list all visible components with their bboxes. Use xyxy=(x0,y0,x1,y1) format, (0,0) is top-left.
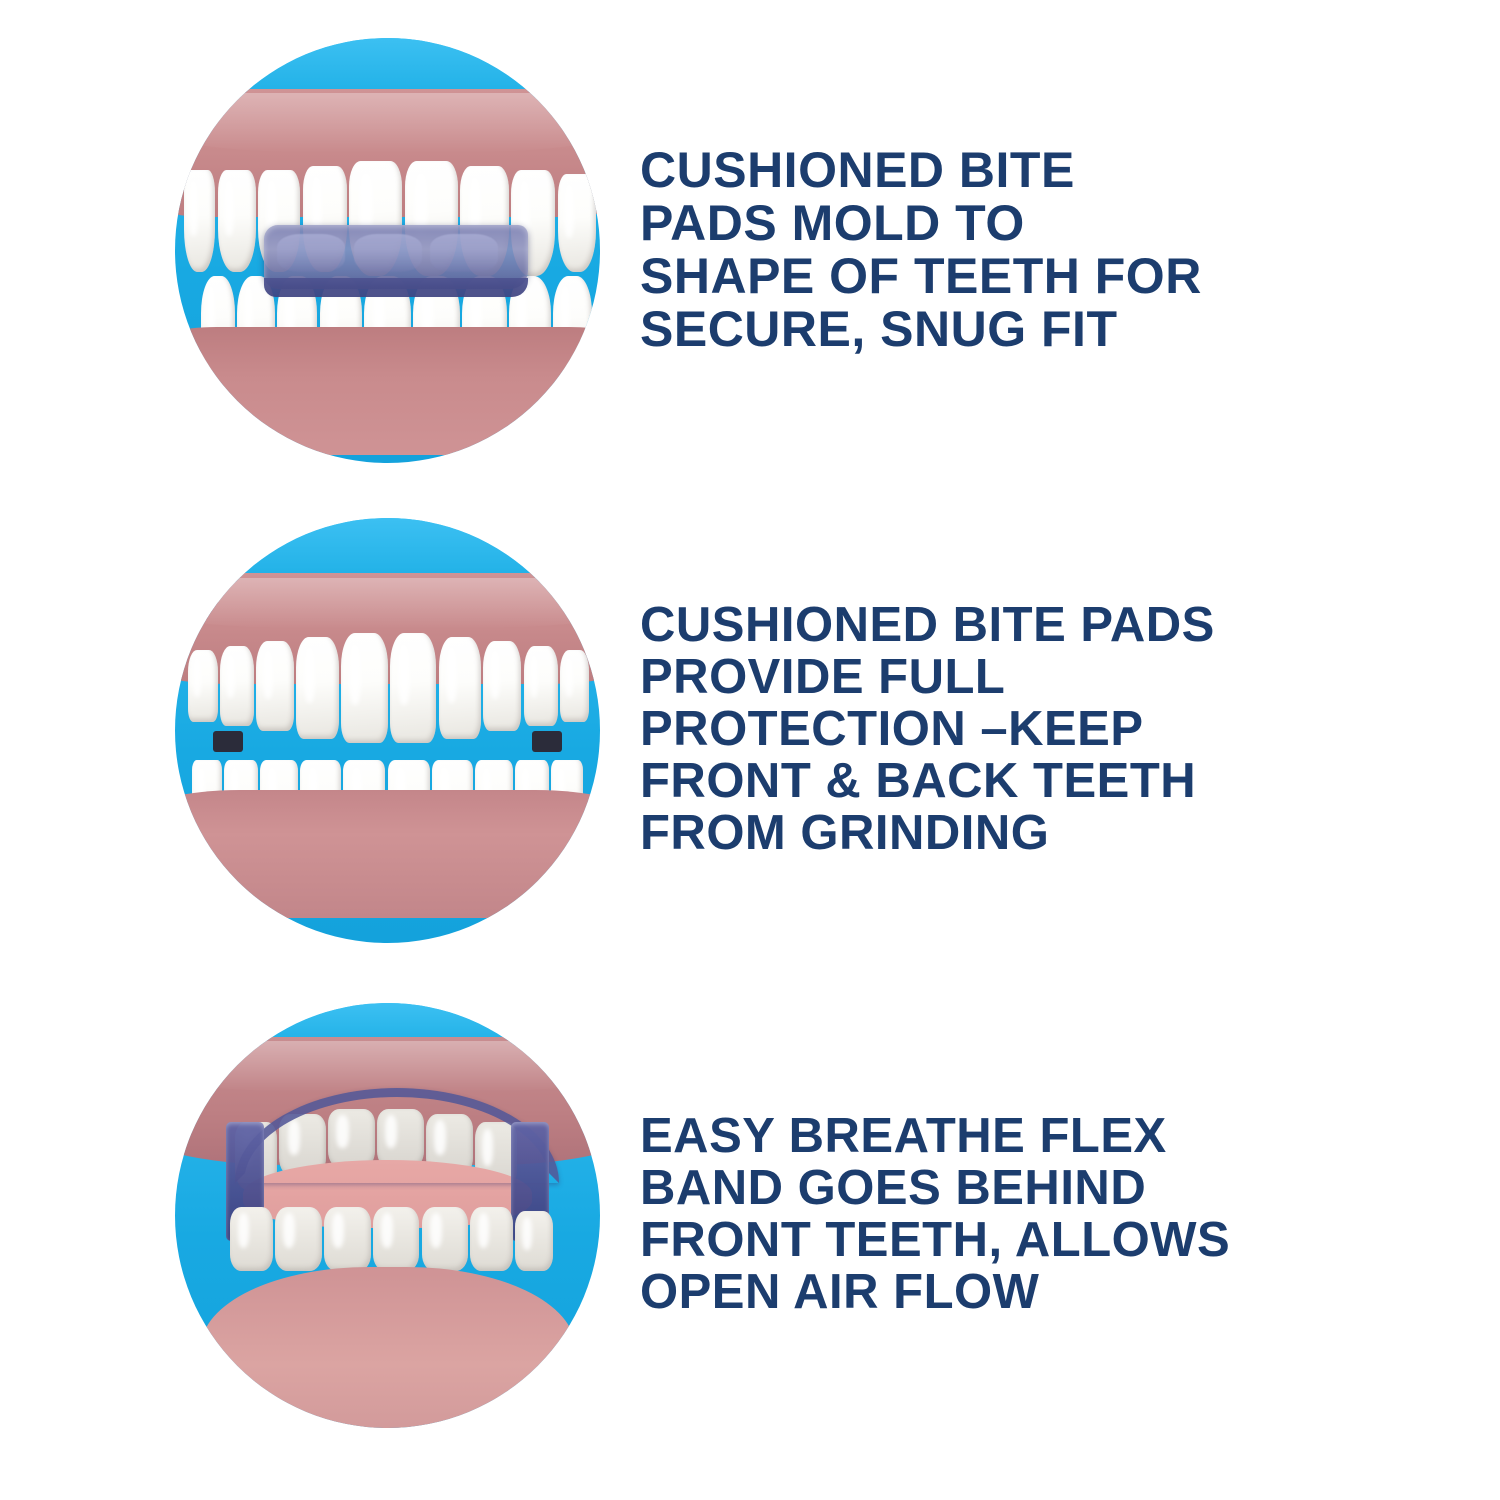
teeth-inside-view-illustration xyxy=(175,1003,600,1428)
lower-tooth xyxy=(373,1207,420,1271)
feature-1-media xyxy=(0,10,640,490)
teeth-side-view-illustration xyxy=(175,38,600,463)
feature-2-media xyxy=(0,490,640,970)
bite-pad-cushion xyxy=(354,234,422,272)
tongue xyxy=(201,1267,575,1429)
lower-tooth xyxy=(470,1207,513,1271)
feature-2-circle-image xyxy=(175,518,600,943)
infographic-page: CUSHIONED BITE PADS MOLD TO SHAPE OF TEE… xyxy=(0,0,1500,1500)
upper-tooth xyxy=(558,174,596,272)
feature-2-heading: CUSHIONED BITE PADS PROVIDE FULL PROTECT… xyxy=(640,600,1390,860)
lower-gum xyxy=(175,790,600,918)
bite-pad-cushion xyxy=(430,234,498,272)
upper-tooth xyxy=(296,637,339,739)
sky-band xyxy=(175,518,600,582)
lower-tooth xyxy=(515,1211,553,1271)
upper-tooth xyxy=(439,637,482,739)
left-bite-gap xyxy=(213,731,243,752)
upper-tooth xyxy=(390,633,437,744)
feature-row-3: EASY BREATHE FLEX BAND GOES BEHIND FRONT… xyxy=(0,975,1500,1455)
lower-gum xyxy=(175,327,600,455)
lower-tooth xyxy=(422,1207,469,1271)
upper-tooth xyxy=(483,641,521,730)
feature-1-circle-image xyxy=(175,38,600,463)
feature-1-heading: CUSHIONED BITE PADS MOLD TO SHAPE OF TEE… xyxy=(640,144,1390,356)
feature-row-2: CUSHIONED BITE PADS PROVIDE FULL PROTECT… xyxy=(0,490,1500,970)
bite-pad-rim xyxy=(264,278,528,297)
lower-tooth xyxy=(324,1207,371,1271)
upper-tooth xyxy=(524,646,558,727)
feature-row-1: CUSHIONED BITE PADS MOLD TO SHAPE OF TEE… xyxy=(0,10,1500,490)
upper-tooth xyxy=(560,650,590,722)
upper-tooth xyxy=(188,650,218,722)
feature-3-circle-image xyxy=(175,1003,600,1428)
lower-tooth xyxy=(275,1207,322,1271)
feature-3-media xyxy=(0,975,640,1455)
upper-tooth xyxy=(184,170,216,272)
feature-2-text: CUSHIONED BITE PADS PROVIDE FULL PROTECT… xyxy=(640,600,1500,860)
teeth-front-view-illustration xyxy=(175,518,600,943)
right-bite-gap xyxy=(532,731,562,752)
bite-pad-cushion xyxy=(277,234,345,272)
upper-tooth xyxy=(220,646,254,727)
upper-tooth xyxy=(256,641,294,730)
feature-1-text: CUSHIONED BITE PADS MOLD TO SHAPE OF TEE… xyxy=(640,144,1500,356)
lower-tooth xyxy=(230,1207,273,1271)
upper-tooth xyxy=(341,633,388,744)
feature-3-text: EASY BREATHE FLEX BAND GOES BEHIND FRONT… xyxy=(640,1111,1500,1319)
feature-3-heading: EASY BREATHE FLEX BAND GOES BEHIND FRONT… xyxy=(640,1111,1390,1319)
upper-tooth xyxy=(218,170,256,272)
